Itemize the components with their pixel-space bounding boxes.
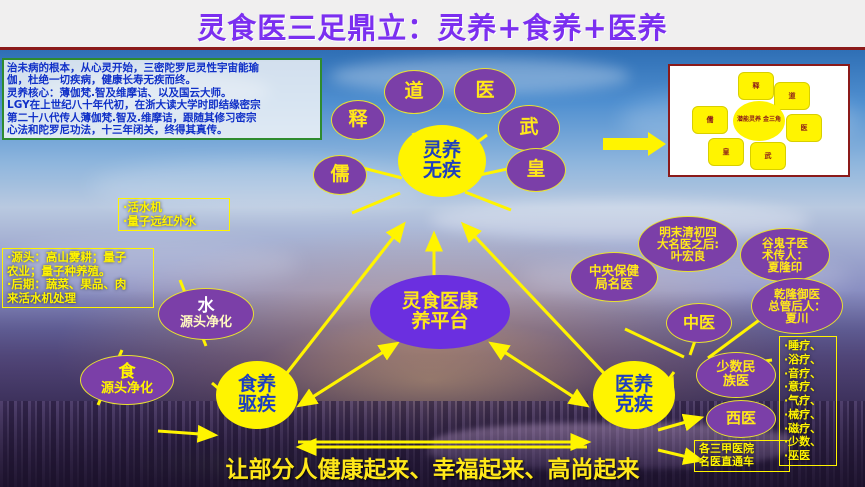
node-shi[interactable]: 释 <box>331 100 385 140</box>
food-source-callout: ·源头：高山雾耕；量子 农业；量子种养殖。 ·后期：蔬菜、果品、肉 来活水机处理 <box>2 248 154 308</box>
intro-line: 灵养核心：薄伽梵.智及维摩诘、以及国云大师。 <box>7 87 317 99</box>
node-medical-health[interactable]: 医养 克疾 <box>593 361 675 429</box>
therapy-item: ·睡疗、 <box>784 339 832 353</box>
node-mingqing-lineage[interactable]: 明末清初四 大名医之后: 叶宏良 <box>638 216 738 272</box>
callout-line: ·量子远红外水 <box>123 215 225 229</box>
node-label-line: 少数民 <box>716 361 755 375</box>
node-western-medicine[interactable]: 西医 <box>706 400 776 438</box>
intro-line: 第二十八代传人薄伽梵.智及.维摩诘，跟随其修习密宗 <box>7 112 317 124</box>
node-label-line: 克疾 <box>615 395 653 415</box>
node-ru[interactable]: 儒 <box>313 155 367 195</box>
bottom-slogan: 让部分人健康起来、幸福起来、高尚起来 <box>0 450 865 484</box>
node-label-line: 驱疾 <box>238 395 276 415</box>
intro-line: 伽，杜绝一切疾病，健康长寿无疾而终。 <box>7 74 317 86</box>
inset-center-line: 潜能灵养 <box>737 116 761 123</box>
inset-segment-label: 儒 <box>707 115 714 125</box>
node-label-line: 叶宏良 <box>657 250 719 262</box>
intro-callout: 治未病的根本，从心灵开始，三密陀罗尼灵性宇宙能瑜 伽，杜绝一切疾病，健康长寿无疾… <box>2 58 322 140</box>
therapy-item: ·音疗、 <box>784 367 832 381</box>
node-label-line: 夏川 <box>768 312 826 324</box>
inset-center-line: 金三角 <box>763 116 781 123</box>
node-dao[interactable]: 道 <box>384 70 444 114</box>
inset-canvas: 潜能灵养 金三角 释 道 医 武 皇 儒 <box>673 69 845 172</box>
node-label-line: 源头净化 <box>180 316 232 330</box>
node-label: 皇 <box>526 160 545 180</box>
node-label-line: 无疾 <box>423 161 461 181</box>
inset-segment-label: 武 <box>765 151 772 161</box>
inset-segment-shi: 释 <box>738 72 774 100</box>
node-label-line: 夏隆印 <box>762 261 808 273</box>
therapy-item: ·浴疗、 <box>784 353 832 367</box>
title-band: 灵食医三足鼎立：灵养+食养+医养 <box>0 0 865 48</box>
node-central-health-bureau[interactable]: 中央保健 局名医 <box>570 252 658 302</box>
node-label-line: 灵食医康 <box>402 292 478 312</box>
node-wu[interactable]: 武 <box>498 105 560 151</box>
node-label-line: 源头净化 <box>101 382 153 396</box>
water-device-callout: ·活水机 ·量子远红外水 <box>118 198 230 231</box>
node-label-line: 水 <box>180 298 232 316</box>
inset-segment-label: 皇 <box>723 147 730 157</box>
node-water-purification[interactable]: 水 源头净化 <box>158 288 254 340</box>
callout-line: 来活水机处理 <box>7 292 149 306</box>
inset-center-label: 潜能灵养 金三角 <box>733 101 785 141</box>
node-label-line: 养平台 <box>402 312 478 332</box>
therapy-item: ·少数、 <box>784 435 832 449</box>
therapy-item: ·磁疗、 <box>784 422 832 436</box>
inset-segment-wu: 武 <box>750 142 786 170</box>
inset-segment-label: 医 <box>801 123 808 133</box>
callout-line: ·后期：蔬菜、果品、肉 <box>7 278 149 292</box>
node-label: 医 <box>475 81 494 101</box>
therapy-item: ·械疗、 <box>784 408 832 422</box>
node-label-line: 食 <box>101 364 153 382</box>
node-food-health[interactable]: 食养 驱疾 <box>216 361 298 429</box>
node-qianlong-lineage[interactable]: 乾隆御医 总管后人： 夏川 <box>751 278 843 334</box>
intro-line: 治未病的根本，从心灵开始，三密陀罗尼灵性宇宙能瑜 <box>7 62 317 74</box>
cloud-shape <box>430 200 810 240</box>
inset-segment-huang: 皇 <box>708 138 744 166</box>
node-label-line: 医养 <box>615 375 653 395</box>
node-label-line: 灵养 <box>423 141 461 161</box>
page-title: 灵食医三足鼎立：灵养+食养+医养 <box>0 5 865 47</box>
intro-line: LGY在上世纪八十年代初，在浙大读大学时即结缘密宗 <box>7 99 317 111</box>
therapy-item: ·意疗、 <box>784 380 832 394</box>
node-minority-medicine[interactable]: 少数民 族医 <box>696 352 776 398</box>
node-center-platform[interactable]: 灵食医康 养平台 <box>370 275 510 349</box>
intro-line: 心法和陀罗尼功法，十三年闭关，终得其真传。 <box>7 124 317 136</box>
node-tcm[interactable]: 中医 <box>666 303 732 343</box>
node-yi[interactable]: 医 <box>454 68 516 114</box>
inset-segment-label: 道 <box>789 91 796 101</box>
node-spirit-health[interactable]: 灵养 无疾 <box>398 125 486 197</box>
node-label: 儒 <box>330 165 349 185</box>
node-label: 武 <box>519 118 538 138</box>
callout-line: ·活水机 <box>123 201 225 215</box>
inset-cycle-diagram: 潜能灵养 金三角 释 道 医 武 皇 儒 <box>668 64 850 177</box>
therapy-item: ·气疗、 <box>784 394 832 408</box>
inset-segment-dao: 道 <box>774 82 810 110</box>
node-huang[interactable]: 皇 <box>506 148 566 192</box>
slide-canvas: 灵食医三足鼎立：灵养+食养+医养 <box>0 0 865 487</box>
node-label-line: 食养 <box>238 375 276 395</box>
node-label: 中医 <box>683 315 715 332</box>
callout-line: ·源头：高山雾耕；量子 <box>7 251 149 265</box>
inset-segment-ru: 儒 <box>692 106 728 134</box>
inset-segment-yi: 医 <box>786 114 822 142</box>
node-guiguzi-lineage[interactable]: 谷鬼子医 术传人： 夏隆印 <box>740 228 830 282</box>
node-label-line: 局名医 <box>589 277 639 290</box>
node-label-line: 族医 <box>716 375 755 389</box>
node-label: 西医 <box>726 411 756 427</box>
node-label: 释 <box>348 110 367 130</box>
therapy-list-callout: ·睡疗、 ·浴疗、 ·音疗、 ·意疗、 ·气疗、 ·械疗、 ·磁疗、 ·少数、 … <box>779 336 837 466</box>
inset-segment-label: 释 <box>753 81 760 91</box>
node-label: 道 <box>404 82 423 102</box>
node-food-purification[interactable]: 食 源头净化 <box>80 355 174 405</box>
